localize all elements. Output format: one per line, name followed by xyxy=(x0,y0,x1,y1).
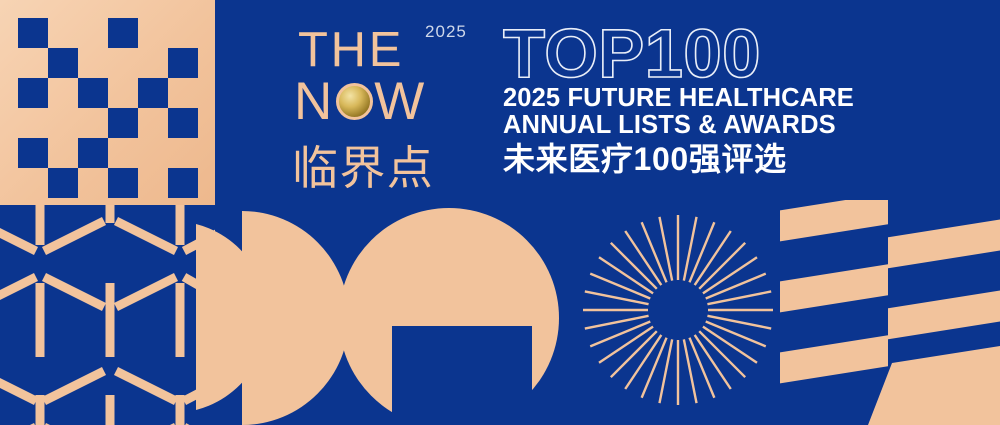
checker-cell-5-5 xyxy=(168,168,198,198)
checker-cell-4-3 xyxy=(108,138,138,168)
checker-cell-4-5 xyxy=(168,138,198,168)
checker-cell-1-3 xyxy=(108,48,138,78)
checker-cell-3-4 xyxy=(138,108,168,138)
checker-cell-3-0 xyxy=(18,108,48,138)
checker-cell-4-4 xyxy=(138,138,168,168)
logo-now-w: W xyxy=(374,75,427,128)
checker-cell-3-5 xyxy=(168,108,198,138)
promo-banner: THE 2025 N W 临界点 TOP100 2025 FUTURE HEAL… xyxy=(0,0,1000,425)
logo-chinese-text: 临界点 xyxy=(292,132,434,198)
headline-block: TOP100 2025 FUTURE HEALTHCARE ANNUAL LIS… xyxy=(503,22,863,177)
checker-cell-2-4 xyxy=(138,78,168,108)
checker-cell-3-1 xyxy=(48,108,78,138)
checker-cell-2-5 xyxy=(168,78,198,108)
checker-cell-1-1 xyxy=(48,48,78,78)
hexagon-lattice-decoration xyxy=(0,205,215,425)
circle-shapes-decoration xyxy=(196,205,586,425)
checker-cell-0-2 xyxy=(78,18,108,48)
checker-cell-5-2 xyxy=(78,168,108,198)
logo-the-text: THE xyxy=(298,26,404,75)
diagonal-stripes-decoration xyxy=(776,200,1000,425)
checker-cell-0-3 xyxy=(108,18,138,48)
event-logo: THE 2025 N W 临界点 xyxy=(292,18,487,193)
checker-cell-5-1 xyxy=(48,168,78,198)
checker-cell-3-3 xyxy=(108,108,138,138)
checker-cell-5-0 xyxy=(18,168,48,198)
hexagon-lattice-icon xyxy=(0,205,215,425)
checker-cell-0-0 xyxy=(18,18,48,48)
logo-year-text: 2025 xyxy=(425,22,467,42)
diagonal-stripes-icon xyxy=(776,200,1000,425)
checker-cell-3-2 xyxy=(78,108,108,138)
checkerboard-decoration xyxy=(0,0,215,205)
checkerboard-grid xyxy=(18,18,198,198)
checker-cell-0-5 xyxy=(168,18,198,48)
checker-cell-0-1 xyxy=(48,18,78,48)
checker-cell-4-2 xyxy=(78,138,108,168)
circle-shapes-icon xyxy=(196,205,586,425)
logo-now-n: N xyxy=(294,75,335,128)
checker-cell-0-4 xyxy=(138,18,168,48)
subtitle-en-line2: ANNUAL LISTS & AWARDS xyxy=(503,112,863,139)
checker-cell-2-2 xyxy=(78,78,108,108)
logo-now-row: N W xyxy=(294,75,427,128)
sunburst-decoration xyxy=(580,212,776,408)
checker-cell-1-4 xyxy=(138,48,168,78)
checker-cell-1-0 xyxy=(18,48,48,78)
checker-cell-5-3 xyxy=(108,168,138,198)
checker-cell-1-2 xyxy=(78,48,108,78)
sunburst-icon xyxy=(580,212,776,408)
checker-cell-4-0 xyxy=(18,138,48,168)
subtitle-cn: 未来医疗100强评选 xyxy=(503,142,863,178)
subtitle-en-line1: 2025 FUTURE HEALTHCARE xyxy=(503,85,863,112)
checker-cell-5-4 xyxy=(138,168,168,198)
gold-sphere-icon xyxy=(336,83,373,120)
top100-title: TOP100 xyxy=(503,22,863,85)
checker-cell-2-0 xyxy=(18,78,48,108)
checker-cell-2-1 xyxy=(48,78,78,108)
checker-cell-1-5 xyxy=(168,48,198,78)
checker-cell-4-1 xyxy=(48,138,78,168)
checker-cell-2-3 xyxy=(108,78,138,108)
